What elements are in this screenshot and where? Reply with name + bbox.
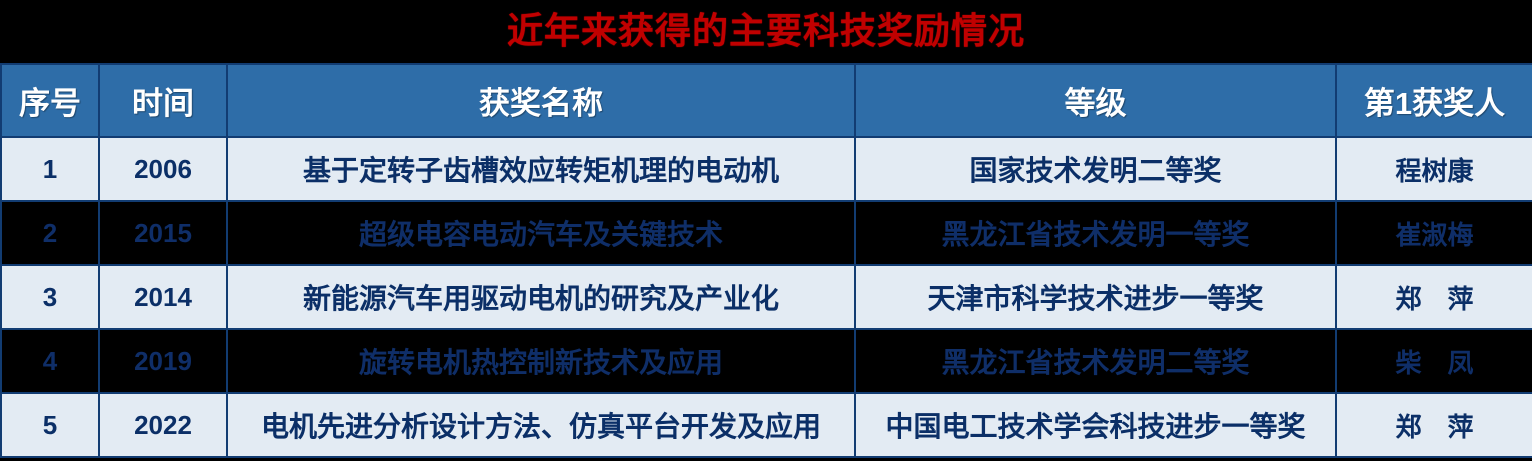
cell-name: 旋转电机热控制新技术及应用 [227,329,855,393]
cell-person: 程树康 [1336,137,1532,201]
column-header-grade: 等级 [855,64,1336,137]
cell-index: 1 [1,137,99,201]
table-row: 5 2022 电机先进分析设计方法、仿真平台开发及应用 中国电工技术学会科技进步… [1,393,1532,457]
cell-name: 电机先进分析设计方法、仿真平台开发及应用 [227,393,855,457]
cell-name: 新能源汽车用驱动电机的研究及产业化 [227,265,855,329]
table-row: 1 2006 基于定转子齿槽效应转矩机理的电动机 国家技术发明二等奖 程树康 [1,137,1532,201]
cell-person: 柴 凤 [1336,329,1532,393]
cell-year: 2006 [99,137,227,201]
cell-year: 2022 [99,393,227,457]
cell-year: 2014 [99,265,227,329]
cell-grade: 国家技术发明二等奖 [855,137,1336,201]
cell-index: 3 [1,265,99,329]
slide-title-bar: 近年来获得的主要科技奖励情况 [0,0,1532,62]
column-header-person: 第1获奖人 [1336,64,1532,137]
cell-index: 2 [1,201,99,265]
slide-root: 近年来获得的主要科技奖励情况 序号 时间 获奖名称 等级 第1获奖人 1 200… [0,0,1532,461]
cell-index: 4 [1,329,99,393]
table-row: 2 2015 超级电容电动汽车及关键技术 黑龙江省技术发明一等奖 崔淑梅 [1,201,1532,265]
table-body: 1 2006 基于定转子齿槽效应转矩机理的电动机 国家技术发明二等奖 程树康 2… [1,137,1532,457]
cell-person: 崔淑梅 [1336,201,1532,265]
table-header: 序号 时间 获奖名称 等级 第1获奖人 [1,64,1532,137]
cell-year: 2019 [99,329,227,393]
header-row: 序号 时间 获奖名称 等级 第1获奖人 [1,64,1532,137]
column-header-name: 获奖名称 [227,64,855,137]
cell-grade: 黑龙江省技术发明二等奖 [855,329,1336,393]
table-row: 4 2019 旋转电机热控制新技术及应用 黑龙江省技术发明二等奖 柴 凤 [1,329,1532,393]
page-title: 近年来获得的主要科技奖励情况 [507,13,1025,49]
column-header-year: 时间 [99,64,227,137]
cell-name: 基于定转子齿槽效应转矩机理的电动机 [227,137,855,201]
column-header-index: 序号 [1,64,99,137]
cell-year: 2015 [99,201,227,265]
table-row: 3 2014 新能源汽车用驱动电机的研究及产业化 天津市科学技术进步一等奖 郑 … [1,265,1532,329]
cell-grade: 天津市科学技术进步一等奖 [855,265,1336,329]
cell-grade: 黑龙江省技术发明一等奖 [855,201,1336,265]
cell-index: 5 [1,393,99,457]
cell-name: 超级电容电动汽车及关键技术 [227,201,855,265]
awards-table: 序号 时间 获奖名称 等级 第1获奖人 1 2006 基于定转子齿槽效应转矩机理… [0,63,1532,458]
cell-person: 郑 萍 [1336,393,1532,457]
cell-person: 郑 萍 [1336,265,1532,329]
cell-grade: 中国电工技术学会科技进步一等奖 [855,393,1336,457]
